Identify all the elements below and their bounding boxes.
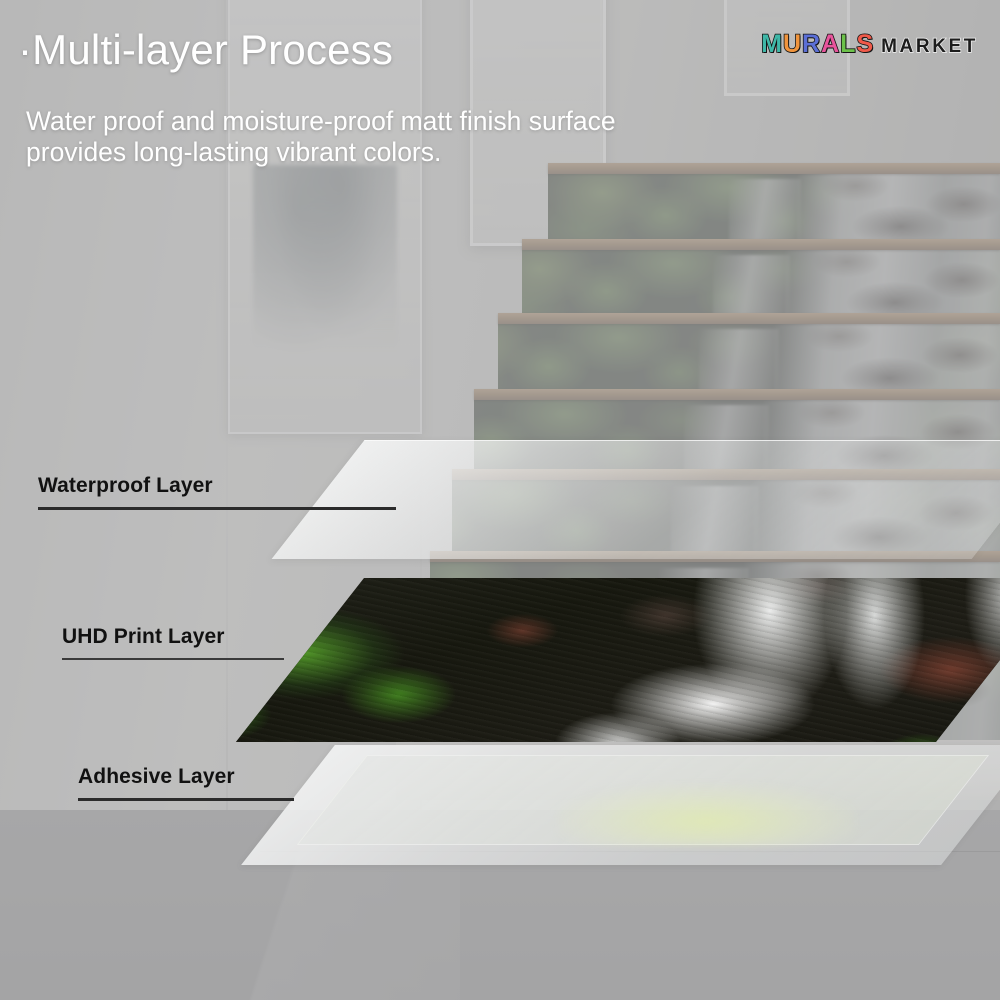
brand-logo-market: MARKET: [881, 37, 978, 56]
mural-panel: [498, 322, 1000, 394]
brand-letter-s-5: S: [856, 32, 874, 57]
layer-callout-uhd-print: UHD Print Layer: [62, 625, 284, 660]
adhesive-inner-panel: [297, 755, 989, 845]
mural-panel: [548, 172, 1000, 242]
layer-leader-line: [78, 798, 294, 801]
stair-tread: [474, 389, 1000, 400]
adhesive-layer-sheet: [241, 745, 1000, 865]
stair-riser-mural: [522, 248, 1000, 318]
product-infographic: ·Multi-layer Process Water proof and moi…: [0, 0, 1000, 1000]
layer-label-text: Adhesive Layer: [78, 765, 294, 789]
brand-letter-u-1: U: [783, 32, 802, 57]
stair-riser-mural: [548, 172, 1000, 242]
stair-tread: [522, 239, 1000, 250]
layer-leader-line: [38, 507, 396, 510]
stair-tread: [498, 313, 1000, 324]
layer-leader-line: [62, 658, 284, 660]
mural-panel: [522, 248, 1000, 318]
page-subtitle: Water proof and moisture-proof matt fini…: [26, 106, 616, 169]
layer-callout-adhesive: Adhesive Layer: [78, 765, 294, 801]
layer-label-text: Waterproof Layer: [38, 474, 396, 498]
stair-tread: [548, 163, 1000, 174]
brand-letter-l-4: L: [840, 32, 856, 57]
uhd-print-layer-sheet: [236, 578, 1000, 742]
layer-label-text: UHD Print Layer: [62, 625, 284, 649]
brand-logo: MURALS MARKET: [761, 32, 978, 57]
brand-letter-m-0: M: [761, 32, 783, 57]
waterfall-print-artwork: [236, 578, 1000, 742]
brand-letter-a-3: A: [821, 32, 840, 57]
brand-letter-r-2: R: [802, 32, 821, 57]
page-title: ·Multi-layer Process: [18, 26, 393, 74]
brand-logo-murals: MURALS: [761, 32, 874, 57]
stair-riser-mural: [498, 322, 1000, 394]
layer-callout-waterproof: Waterproof Layer: [38, 474, 396, 510]
